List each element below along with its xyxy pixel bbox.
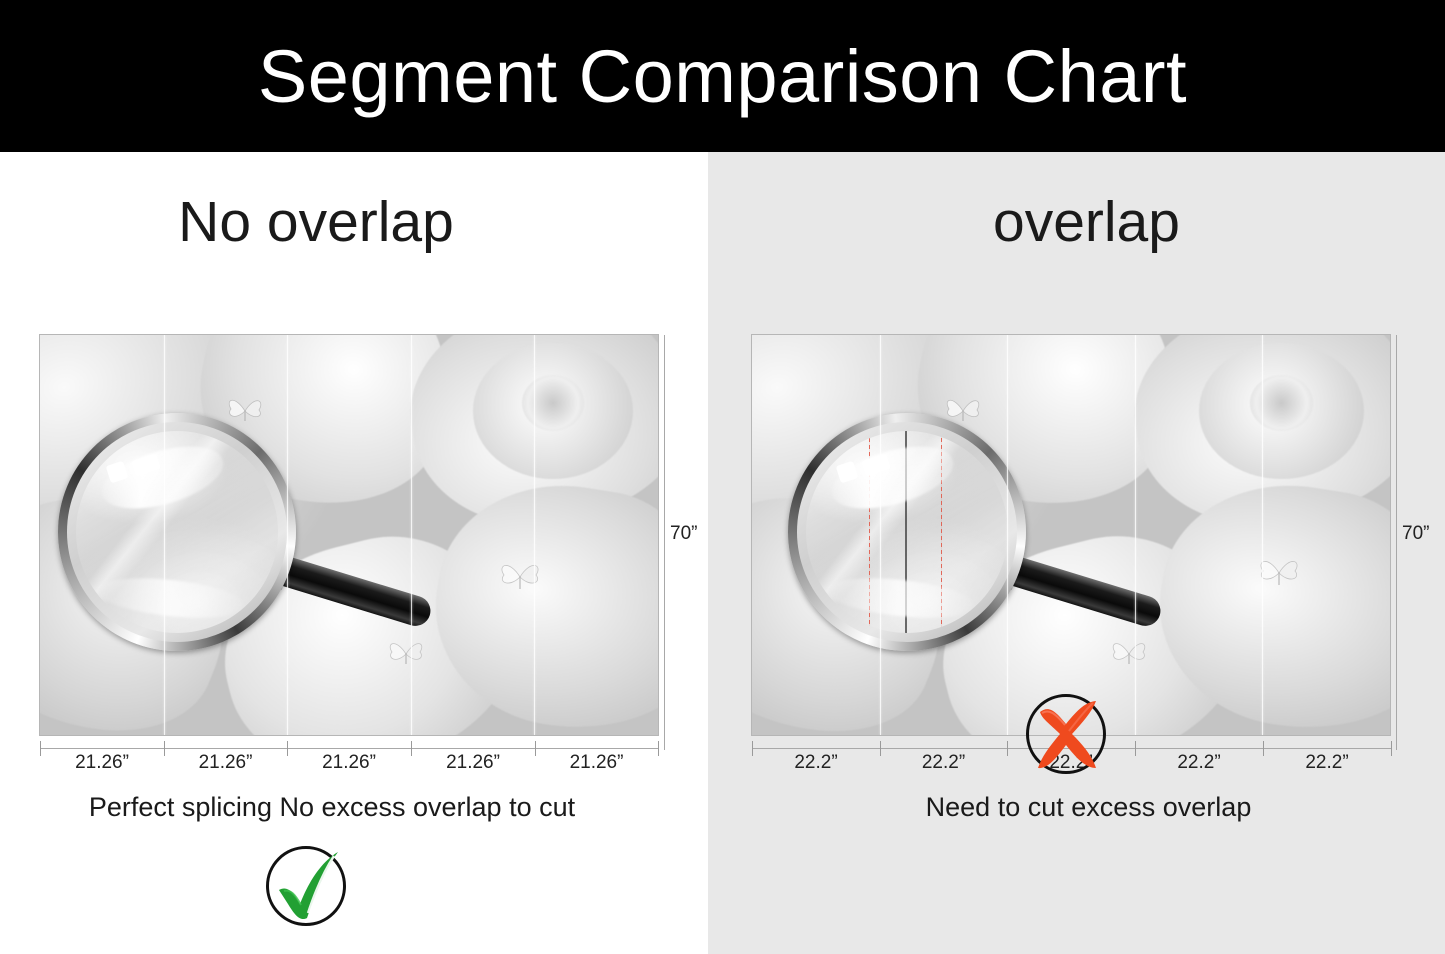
segment-width-label: 22.2” [880,752,1007,774]
title-bar: Segment Comparison Chart [0,0,1445,152]
segment-comparison-chart-page: Segment Comparison Chart No overlap [0,0,1445,954]
segment-divider [534,335,535,735]
panel-heading-overlap: overlap [718,194,1445,251]
height-label: 70” [1402,523,1429,545]
segment-divider [1135,335,1136,735]
segment-width-label: 21.26” [287,752,411,774]
segment-width-label: 21.26” [164,752,287,774]
width-dimension-line [40,748,659,749]
segment-width-label: 22.2” [1263,752,1391,774]
panel-no-overlap: No overlap [0,152,708,954]
panel-heading-no-overlap: No overlap [0,194,670,251]
segment-divider [411,335,412,735]
dimension-tick [1391,741,1392,756]
height-dimension-line [664,335,665,750]
segment-width-label: 22.2” [1135,752,1263,774]
segment-divider [880,335,881,735]
height-label: 70” [670,523,697,545]
rosette-center [1250,375,1314,431]
page-title: Segment Comparison Chart [0,0,1445,152]
segment-divider [164,335,165,735]
segment-width-label: 21.26” [535,752,658,774]
check-icon [262,842,358,938]
panel-overlap: overlap [708,152,1445,954]
caption-no-overlap: Perfect splicing No excess overlap to cu… [0,792,686,823]
butterfly-icon [497,555,543,595]
mural-image-no-overlap [40,335,658,735]
mural-image-overlap [752,335,1390,735]
height-dimension-line [1396,335,1397,750]
segment-width-label: 21.26” [411,752,535,774]
dimension-tick [658,741,659,756]
rosette-center [522,375,584,431]
segment-divider [1262,335,1263,735]
butterfly-icon [386,635,426,669]
butterfly-icon [943,391,983,427]
segment-divider [287,335,288,735]
butterfly-icon [1109,635,1149,669]
mural-artwork [752,335,1390,735]
segment-width-label: 22.2” [752,752,880,774]
mural-artwork [40,335,658,735]
cross-icon [1022,690,1118,786]
butterfly-icon [225,391,265,427]
verdict-cross [1022,690,1118,786]
segment-divider [1007,335,1008,735]
caption-overlap: Need to cut excess overlap [720,792,1445,823]
verdict-check [262,842,358,938]
segment-width-label: 21.26” [40,752,164,774]
